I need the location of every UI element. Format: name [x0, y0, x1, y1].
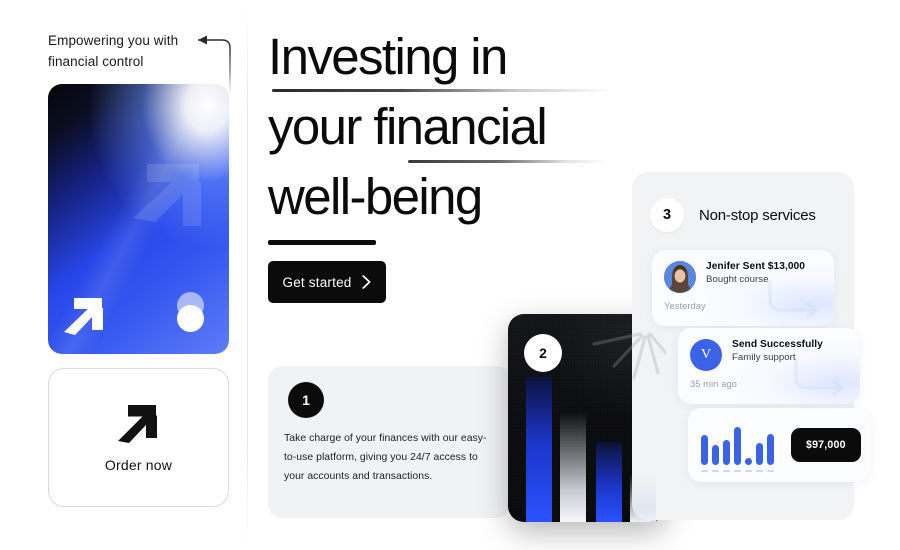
chart-bar	[756, 443, 763, 465]
amount-pill: $97,000	[791, 428, 861, 462]
services-panel-header: 3 Non-stop services	[650, 198, 816, 232]
headline-line-3: well-being	[268, 162, 668, 232]
services-title: Non-stop services	[699, 207, 816, 224]
chart-bar	[745, 458, 752, 465]
landing-page: Empowering you with financial control	[0, 0, 900, 550]
services-badge: 3	[650, 198, 684, 232]
notification-time: Yesterday	[664, 300, 834, 311]
vertical-divider	[247, 0, 248, 550]
chart-bar	[723, 440, 730, 465]
order-now-card[interactable]: Order now	[48, 368, 229, 507]
headline-line-1: Investing in	[268, 22, 668, 92]
chart-bar	[734, 427, 741, 465]
chart-bar	[767, 434, 774, 465]
step-badge-2: 2	[524, 334, 562, 372]
bar-chart	[701, 425, 779, 465]
overlapping-circles-icon	[173, 292, 213, 334]
chart-bar	[701, 435, 708, 465]
step-badge-1: 1	[288, 382, 324, 418]
dark-bar-4	[630, 474, 656, 522]
avatar	[664, 261, 696, 293]
headline-underline-1	[272, 89, 612, 92]
chart-tick-labels	[701, 470, 779, 472]
arrow-up-right-logo	[62, 296, 108, 336]
card-watermark-logo	[113, 148, 223, 268]
dark-bar-3	[596, 442, 622, 522]
arrow-up-right-logo	[116, 403, 162, 445]
get-started-label: Get started	[283, 275, 352, 290]
dark-bar-1	[526, 377, 552, 522]
left-column: Empowering you with financial control	[0, 0, 248, 550]
notification-card-send-successfully[interactable]: V Send Successfully Family support 35 mi…	[678, 328, 860, 404]
notification-time: 35 min ago	[690, 378, 860, 389]
avatar: V	[690, 339, 722, 371]
chevron-right-icon	[362, 275, 371, 289]
avatar-letter: V	[701, 347, 711, 363]
notification-subtitle: Family support	[732, 352, 823, 363]
payment-card-visual	[48, 84, 229, 354]
order-now-label: Order now	[105, 457, 172, 473]
notification-subtitle: Bought course	[706, 274, 805, 285]
step-body-1: Take charge of your finances with our ea…	[284, 429, 496, 486]
balance-chart-card[interactable]: $97,000	[688, 408, 870, 482]
eyebrow-text: Empowering you with financial control	[48, 30, 198, 72]
dark-bar-2	[560, 412, 586, 522]
headline-line-2: your financial	[268, 92, 668, 162]
hero-headline: Investing in your financial well-being	[268, 22, 668, 232]
chart-bar	[712, 445, 719, 465]
headline-underline-3	[268, 240, 376, 245]
notification-title: Send Successfully	[732, 339, 823, 350]
step-card-2: 2	[508, 314, 666, 522]
step-card-1: 1 Take charge of your finances with our …	[268, 366, 511, 518]
dark-card-bar-chart	[508, 372, 666, 522]
get-started-button[interactable]: Get started	[268, 261, 386, 303]
headline-underline-2	[408, 160, 608, 163]
notification-title: Jenifer Sent $13,000	[706, 261, 805, 272]
notification-card-jenifer[interactable]: Jenifer Sent $13,000 Bought course Yeste…	[652, 250, 834, 326]
